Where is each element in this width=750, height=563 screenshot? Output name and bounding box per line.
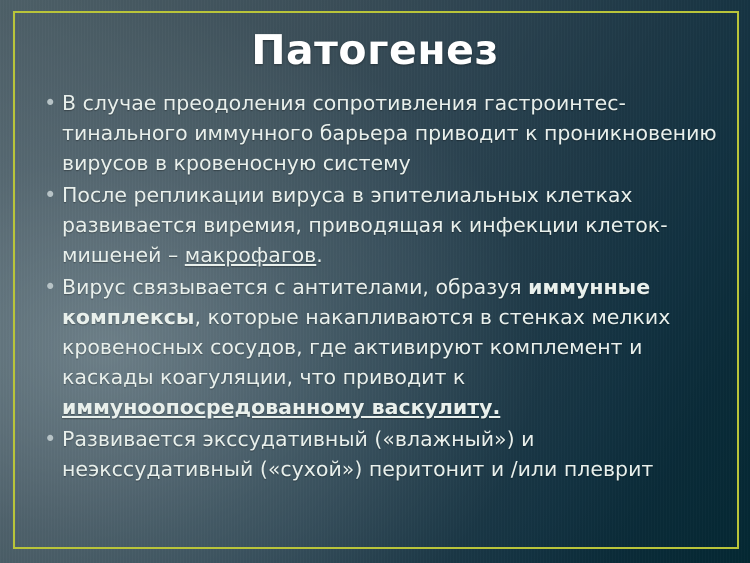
bullet-4-segment-0: Развивается экссудативный («влажный») и …	[62, 427, 653, 481]
slide-title: Патогенез	[0, 26, 750, 74]
bullet-2-text: После репликации вируса в эпителиальных …	[62, 180, 720, 270]
list-item: •Развивается экссудативный («влажный») и…	[40, 424, 720, 484]
list-item: •Вирус связывается с антителами, образуя…	[40, 272, 720, 422]
list-item: •В случае преодоления сопротивления гаст…	[40, 88, 720, 178]
presentation-slide: Патогенез •В случае преодоления сопротив…	[0, 0, 750, 563]
bullet-1-text: В случае преодоления сопротивления гастр…	[62, 88, 720, 178]
bullet-3-segment-0: Вирус связывается с антителами, образуя	[62, 275, 528, 299]
bullet-3-segment-3: иммуноопосредованному васкулиту.	[62, 395, 500, 419]
bullet-1-segment-0: В случае преодоления сопротивления гастр…	[62, 91, 717, 175]
list-item: •После репликации вируса в эпителиальных…	[40, 180, 720, 270]
bullet-marker-icon: •	[40, 180, 62, 210]
bullet-list: •В случае преодоления сопротивления гаст…	[40, 88, 720, 486]
bullet-4-text: Развивается экссудативный («влажный») и …	[62, 424, 720, 484]
bullet-marker-icon: •	[40, 272, 62, 302]
bullet-3-text: Вирус связывается с антителами, образуя …	[62, 272, 720, 422]
bullet-marker-icon: •	[40, 88, 62, 118]
bullet-2-segment-1: макрофагов	[185, 243, 316, 267]
bullet-2-segment-0: После репликации вируса в эпителиальных …	[62, 183, 668, 267]
bullet-marker-icon: •	[40, 424, 62, 454]
bullet-2-segment-2: .	[316, 243, 323, 267]
